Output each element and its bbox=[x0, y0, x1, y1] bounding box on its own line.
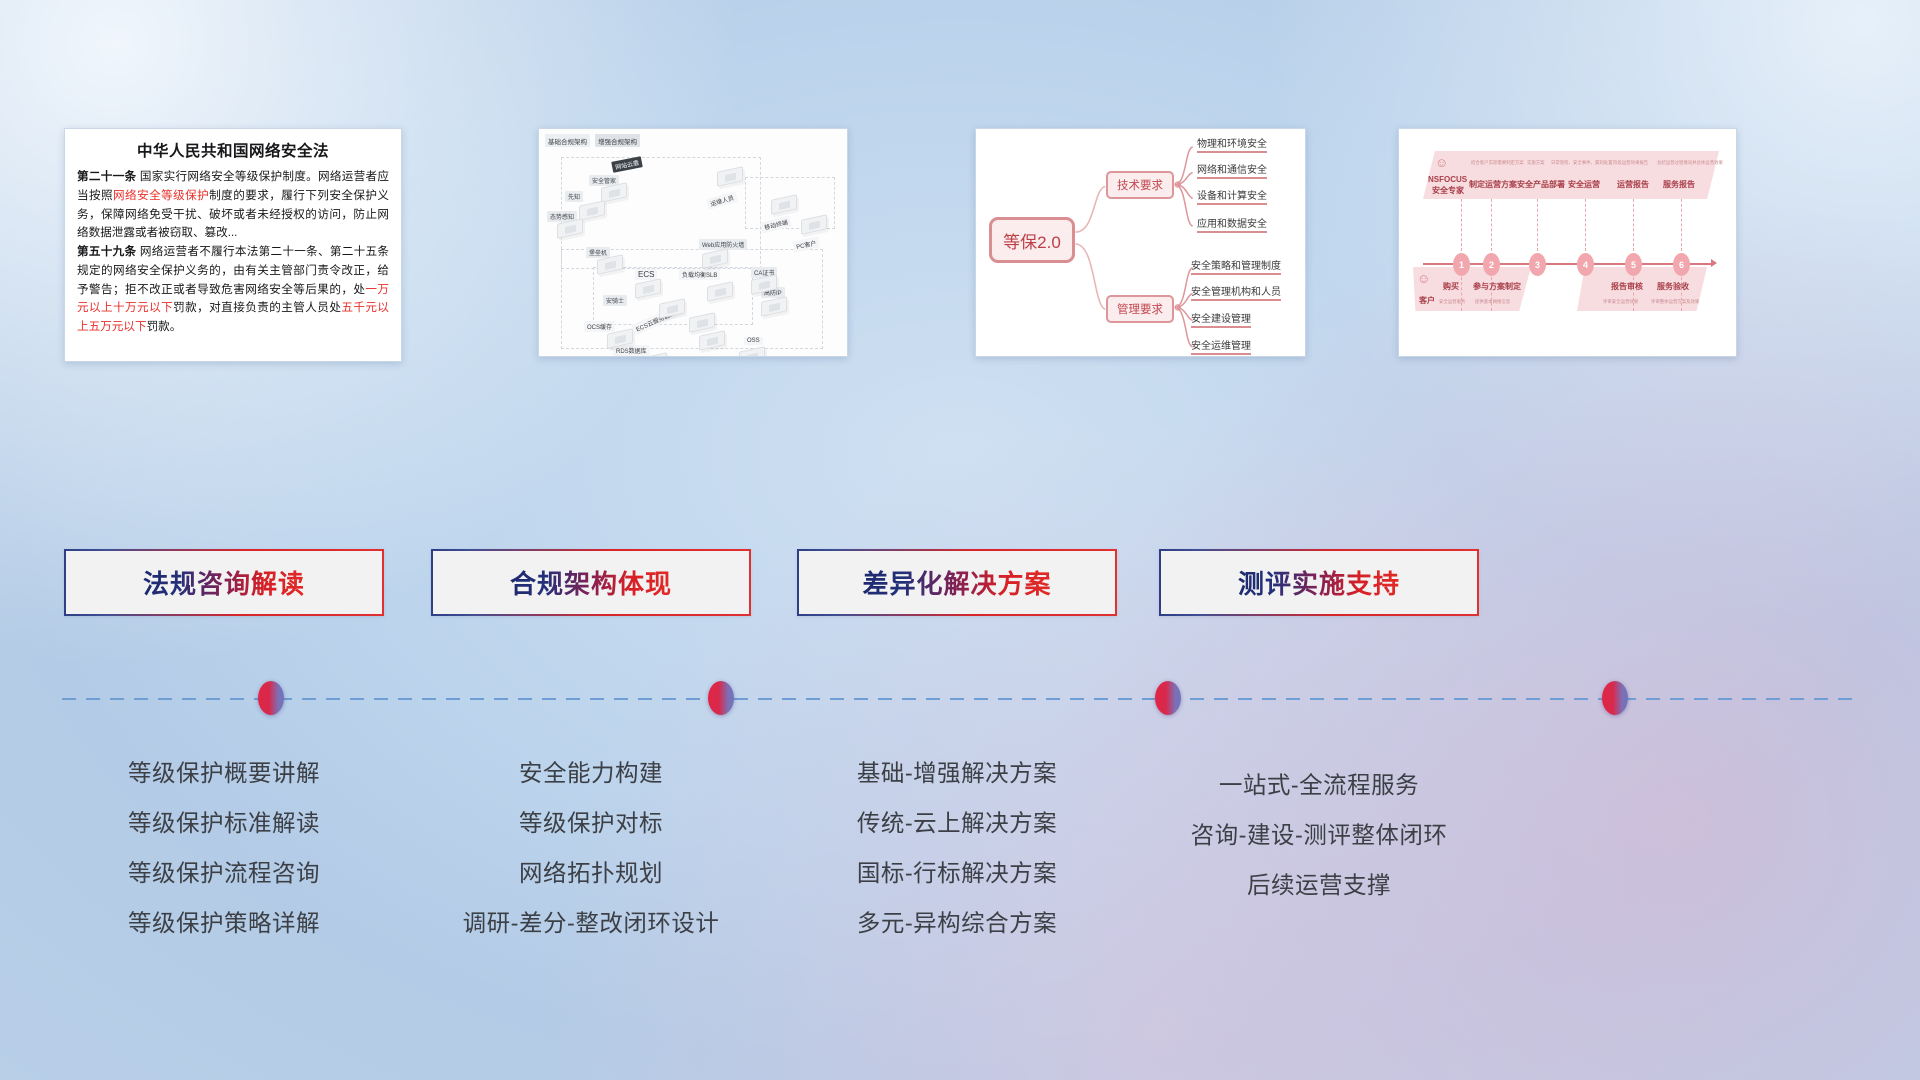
list-item: 一站式-全流程服务 bbox=[1159, 760, 1479, 810]
card-cybersecurity-law[interactable]: 中华人民共和国网络安全法 第二十一条 国家实行网络安全等级保护制度。网络运营者应… bbox=[64, 128, 402, 362]
article-59-text-c: 罚款。 bbox=[147, 320, 182, 333]
step-number-4: 4 bbox=[1577, 253, 1594, 276]
node-xianzhi: 先知 bbox=[565, 191, 583, 202]
list-item: 安全能力构建 bbox=[431, 748, 751, 798]
tab-enhanced-architecture[interactable]: 增强合规架构 bbox=[595, 134, 640, 147]
feature-list-2: 安全能力构建 等级保护对标 网络拓扑规划 调研-差分-整改闭环设计 bbox=[431, 748, 751, 948]
top-title-5: 服务报告 bbox=[1663, 179, 1695, 190]
connector-2 bbox=[1491, 199, 1492, 251]
mindmap-leaf-construction: 安全建设管理 bbox=[1191, 310, 1251, 328]
top-title-2: 安全产品部署 bbox=[1517, 179, 1565, 190]
reference-cards-row: 中华人民共和国网络安全法 第二十一条 国家实行网络安全等级保护制度。网络运营者应… bbox=[0, 128, 1920, 368]
node-oss: OSS bbox=[744, 337, 763, 345]
step-number-2: 2 bbox=[1483, 253, 1500, 276]
connector-b1 bbox=[1461, 277, 1462, 311]
milestone-dashed-line bbox=[62, 698, 1862, 700]
connector-4 bbox=[1585, 199, 1586, 251]
feature-list-3: 基础-增强解决方案 传统-云上解决方案 国标-行标解决方案 多元-异构综合方案 bbox=[797, 748, 1117, 948]
top-note-4: 阶段运营效果报告 bbox=[1613, 160, 1648, 166]
connector-1 bbox=[1461, 199, 1462, 251]
connector-6 bbox=[1681, 199, 1682, 251]
law-title: 中华人民共和国网络安全法 bbox=[77, 139, 389, 161]
section-header-label-4: 测评实施支持 bbox=[1238, 564, 1400, 601]
bottom-title-2: 参与方案制定 bbox=[1473, 281, 1521, 292]
milestone-dot-4[interactable] bbox=[1602, 681, 1628, 715]
mindmap-leaf-network-comm: 网络和通信安全 bbox=[1197, 161, 1267, 179]
article-21-label: 第二十一条 bbox=[77, 170, 136, 183]
list-item: 传统-云上解决方案 bbox=[797, 798, 1117, 848]
list-item: 调研-差分-整改闭环设计 bbox=[431, 898, 751, 948]
nsfocus-actor-line2: 安全专家 bbox=[1432, 185, 1464, 196]
top-note-5: 总结运营过程情况并总体运营效果 bbox=[1657, 160, 1723, 166]
bottom-title-1: 购买 bbox=[1443, 281, 1459, 292]
node-rds-database: RDS数据库 bbox=[613, 345, 650, 356]
law-article-59: 第五十九条 网络运营者不履行本法第二十一条、第二十五条规定的网络安全保护义务的，… bbox=[77, 243, 389, 337]
card-nsfocus-timeline[interactable]: ☺ NSFOCUS 安全专家 结合客户实际需要制定方案 制定运营方案 实施方案 … bbox=[1398, 128, 1737, 357]
node-anqishi: 安骑士 bbox=[603, 295, 627, 306]
mindmap-leaf-policy-system: 安全策略和管理制度 bbox=[1191, 257, 1281, 275]
mindmap-branch-management: 管理要求 bbox=[1106, 295, 1174, 323]
mindmap-leaf-physical-env: 物理和环境安全 bbox=[1197, 135, 1267, 153]
mindmap-leaf-device-compute: 设备和计算安全 bbox=[1197, 187, 1267, 205]
mindmap-branch-technical: 技术要求 bbox=[1106, 171, 1174, 199]
card-mindmap-dengbao[interactable]: 等保2.0 技术要求 管理要求 物理和环境安全 网络和通信安全 设备和计算安全 … bbox=[975, 128, 1306, 357]
mindmap-root-node: 等保2.0 bbox=[989, 217, 1075, 263]
connector-5 bbox=[1633, 199, 1634, 251]
section-header-label-2: 合规架构体现 bbox=[510, 564, 672, 601]
bottom-note-3: 评审安全运营效果 bbox=[1603, 299, 1638, 305]
section-header-label-3: 差异化解决方案 bbox=[862, 564, 1051, 601]
list-item: 等级保护流程咨询 bbox=[64, 848, 384, 898]
list-item: 网络拓扑规划 bbox=[431, 848, 751, 898]
bottom-title-3: 报告审核 bbox=[1611, 281, 1643, 292]
law-document: 中华人民共和国网络安全法 第二十一条 国家实行网络安全等级保护制度。网络运营者应… bbox=[65, 129, 401, 343]
expert-avatar-icon: ☺ bbox=[1435, 155, 1448, 170]
node-ocs-cache: OCS缓存 bbox=[584, 321, 615, 332]
bottom-note-1: 安全运营服务 bbox=[1439, 299, 1465, 305]
milestone-dot-2[interactable] bbox=[708, 681, 734, 715]
nsfocus-timeline-diagram: ☺ NSFOCUS 安全专家 结合客户实际需要制定方案 制定运营方案 实施方案 … bbox=[1399, 129, 1736, 356]
mindmap-leaf-operations: 安全运维管理 bbox=[1191, 337, 1251, 355]
step-number-6: 6 bbox=[1673, 253, 1690, 276]
top-title-4: 运营报告 bbox=[1617, 179, 1649, 190]
node-bastion-host: 堡垒机 bbox=[586, 247, 610, 258]
top-note-3: 日常巡检、安全事件、漏洞处置 bbox=[1551, 160, 1612, 166]
customer-avatar-icon: ☺ bbox=[1417, 271, 1430, 286]
law-article-21: 第二十一条 国家实行网络安全等级保护制度。网络运营者应当按照网络安全等级保护制度… bbox=[77, 168, 389, 243]
list-item: 基础-增强解决方案 bbox=[797, 748, 1117, 798]
top-note-1: 结合客户实际需要制定方案 bbox=[1471, 160, 1524, 166]
feature-list-1: 等级保护概要讲解 等级保护标准解读 等级保护流程咨询 等级保护策略详解 bbox=[64, 748, 384, 948]
card-cloud-architecture[interactable]: 基础合规架构 增强合规架构 网站云盾 安全管家 先知 态势感知 堡垒机 安骑士 … bbox=[538, 128, 848, 357]
top-title-3: 安全运营 bbox=[1568, 179, 1600, 190]
section-header-label-1: 法规咨询解读 bbox=[143, 564, 305, 601]
section-header-assessment-support[interactable]: 测评实施支持 bbox=[1159, 549, 1479, 616]
list-item: 国标-行标解决方案 bbox=[797, 848, 1117, 898]
mindmap-diagram: 等保2.0 技术要求 管理要求 物理和环境安全 网络和通信安全 设备和计算安全 … bbox=[976, 129, 1305, 356]
bottom-note-4: 评审整体运营方案及效果 bbox=[1651, 299, 1699, 305]
list-item: 咨询-建设-测评整体闭环 bbox=[1159, 810, 1479, 860]
step-number-1: 1 bbox=[1453, 253, 1470, 276]
list-item: 等级保护概要讲解 bbox=[64, 748, 384, 798]
node-slb: 负载均衡SLB bbox=[679, 269, 720, 280]
mindmap-leaf-app-data: 应用和数据安全 bbox=[1197, 215, 1267, 233]
section-header-regulation-consulting[interactable]: 法规咨询解读 bbox=[64, 549, 384, 616]
architecture-tabs: 基础合规架构 增强合规架构 bbox=[545, 134, 640, 147]
article-21-highlight: 网络安全等级保护 bbox=[113, 189, 209, 202]
step-number-5: 5 bbox=[1625, 253, 1642, 276]
nsfocus-actor-line1: NSFOCUS bbox=[1428, 175, 1467, 184]
bottom-note-2: 提供基本网络信息 bbox=[1475, 299, 1510, 305]
customer-actor-label: 客户 bbox=[1419, 295, 1435, 306]
article-59-text-b: 罚款，对直接负责的主管人员处 bbox=[173, 301, 341, 314]
section-header-compliance-architecture[interactable]: 合规架构体现 bbox=[431, 549, 751, 616]
top-note-2: 实施方案 bbox=[1527, 160, 1545, 166]
top-band bbox=[1423, 151, 1719, 199]
connector-3 bbox=[1537, 199, 1538, 251]
list-item: 多元-异构综合方案 bbox=[797, 898, 1117, 948]
section-header-differentiated-solution[interactable]: 差异化解决方案 bbox=[797, 549, 1117, 616]
article-59-label: 第五十九条 bbox=[77, 245, 136, 258]
bottom-title-4: 服务验收 bbox=[1657, 281, 1689, 292]
architecture-diagram: 基础合规架构 增强合规架构 网站云盾 安全管家 先知 态势感知 堡垒机 安骑士 … bbox=[539, 129, 847, 356]
milestone-dot-3[interactable] bbox=[1155, 681, 1181, 715]
list-item: 等级保护对标 bbox=[431, 798, 751, 848]
tab-basic-architecture[interactable]: 基础合规架构 bbox=[545, 134, 590, 147]
top-title-1: 制定运营方案 bbox=[1469, 179, 1517, 190]
feature-list-4: 一站式-全流程服务 咨询-建设-测评整体闭环 后续运营支撑 bbox=[1159, 760, 1479, 910]
node-ecs: ECS bbox=[635, 269, 657, 280]
milestone-dot-1[interactable] bbox=[258, 681, 284, 715]
list-item: 等级保护策略详解 bbox=[64, 898, 384, 948]
timeline-arrow-icon bbox=[1711, 259, 1717, 267]
mindmap-leaf-org-personnel: 安全管理机构和人员 bbox=[1191, 283, 1281, 301]
list-item: 等级保护标准解读 bbox=[64, 798, 384, 848]
list-item: 后续运营支撑 bbox=[1159, 860, 1479, 910]
step-number-3: 3 bbox=[1529, 253, 1546, 276]
